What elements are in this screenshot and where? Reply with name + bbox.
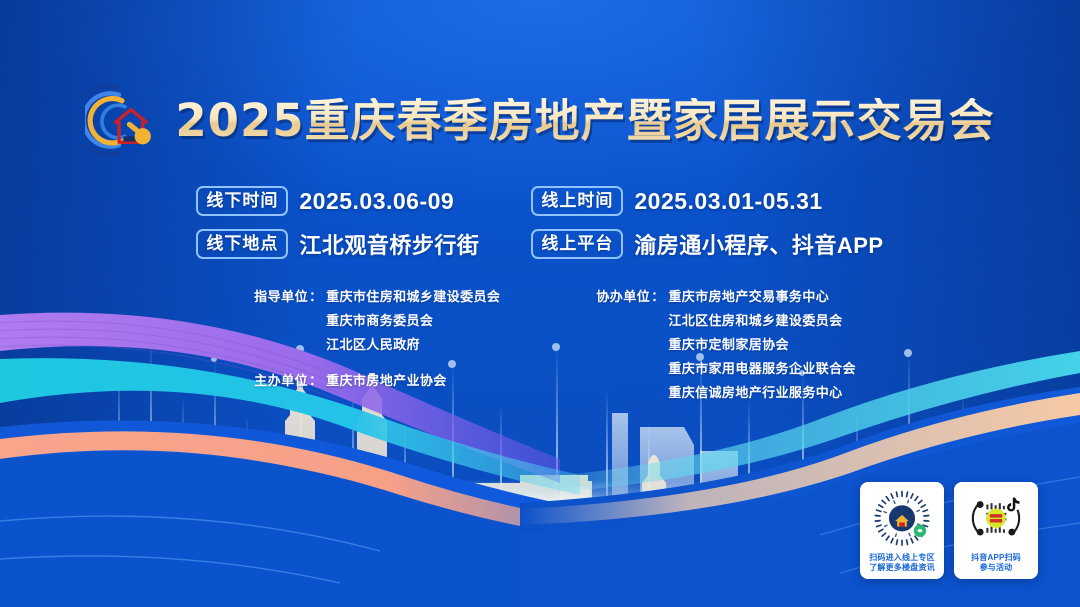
organizer-separator: ：	[650, 286, 668, 305]
organizer-value: 重庆市房地产业协会	[326, 370, 447, 389]
organizer-separator	[650, 358, 668, 377]
wechat-qr-caption-line1: 扫码进入线上专区	[869, 553, 935, 562]
online-time-tag: 线上时间	[531, 186, 623, 216]
organizer-row: 江北区住房和城乡建设委员会	[578, 310, 856, 329]
page-title: 2025重庆春季房地产暨家居展示交易会	[175, 98, 994, 143]
offline-time-row: 线下时间 2025.03.06-09	[196, 186, 479, 216]
douyin-qr-caption-line1: 抖音APP扫码	[971, 553, 1021, 562]
organizer-value: 重庆市家用电器服务企业联合会	[668, 358, 856, 377]
event-info: 线下时间 2025.03.06-09 线下地点 江北观音桥步行街 线上时间 20…	[0, 186, 1080, 259]
organizer-label: 主办单位	[224, 370, 308, 389]
offline-time-value: 2025.03.06-09	[299, 188, 454, 215]
title-row: 2025重庆春季房地产暨家居展示交易会	[0, 84, 1080, 156]
event-poster: 2025重庆春季房地产暨家居展示交易会 线下时间 2025.03.06-09 线…	[0, 0, 1080, 607]
douyin-qr-card[interactable]: 抖音APP扫码 参与活动	[954, 482, 1038, 579]
douyin-qr-caption-line2: 参与活动	[980, 563, 1013, 572]
organizers-left-block: 指导单位 ： 重庆市住房和城乡建设委员会 重庆市商务委员会 江北区人民政府 主办…	[224, 286, 500, 401]
organizer-value: 重庆市住房和城乡建设委员会	[326, 286, 500, 305]
organizer-value: 重庆市房地产交易事务中心	[668, 286, 829, 305]
qr-code-group: 扫码进入线上专区 了解更多楼盘资讯	[860, 482, 1038, 579]
organizer-separator: ：	[308, 370, 326, 389]
offline-location-value: 江北观音桥步行街	[299, 228, 479, 260]
wechat-miniprogram-qr-card[interactable]: 扫码进入线上专区 了解更多楼盘资讯	[860, 482, 944, 579]
organizer-value: 重庆市商务委员会	[326, 310, 433, 329]
wechat-qr-caption: 扫码进入线上专区 了解更多楼盘资讯	[869, 553, 935, 574]
organizer-value: 重庆市定制家居协会	[668, 334, 789, 353]
online-info-column: 线上时间 2025.03.01-05.31 线上平台 渝房通小程序、抖音APP	[531, 186, 883, 259]
online-time-value: 2025.03.01-05.31	[634, 188, 822, 215]
organizer-row: 重庆市家用电器服务企业联合会	[578, 358, 856, 377]
organizer-label: 指导单位	[224, 286, 308, 305]
organizer-separator	[650, 382, 668, 401]
douyin-qr-icon[interactable]	[961, 488, 1031, 550]
online-platform-tag: 线上平台	[531, 229, 623, 259]
wechat-qr-caption-line2: 了解更多楼盘资讯	[869, 563, 935, 572]
wechat-miniprogram-qr-icon[interactable]	[867, 488, 937, 550]
organizer-row: 重庆市定制家居协会	[578, 334, 856, 353]
douyin-qr-caption: 抖音APP扫码 参与活动	[971, 553, 1021, 574]
organizer-row: 指导单位 ： 重庆市住房和城乡建设委员会	[224, 286, 500, 305]
organizer-separator	[308, 334, 326, 353]
organizers: 指导单位 ： 重庆市住房和城乡建设委员会 重庆市商务委员会 江北区人民政府 主办…	[0, 286, 1080, 401]
organizer-row: 江北区人民政府	[224, 334, 500, 353]
organizer-row: 协办单位 ： 重庆市房地产交易事务中心	[578, 286, 856, 305]
organizers-right-block: 协办单位 ： 重庆市房地产交易事务中心 江北区住房和城乡建设委员会 重庆市定制家…	[578, 286, 856, 401]
organizer-value: 江北区人民政府	[326, 334, 420, 353]
organizer-row: 重庆市商务委员会	[224, 310, 500, 329]
offline-info-column: 线下时间 2025.03.06-09 线下地点 江北观音桥步行街	[196, 186, 479, 259]
organizer-value: 重庆信诚房地产行业服务中心	[668, 382, 842, 401]
offline-location-row: 线下地点 江北观音桥步行街	[196, 229, 479, 259]
organizer-value: 江北区住房和城乡建设委员会	[668, 310, 842, 329]
organizer-spacer	[224, 358, 500, 365]
organizer-row: 主办单位 ： 重庆市房地产业协会	[224, 370, 500, 389]
organizer-separator	[308, 310, 326, 329]
organizer-separator	[650, 334, 668, 353]
organizer-label: 协办单位	[578, 286, 650, 305]
organizer-separator	[650, 310, 668, 329]
online-time-row: 线上时间 2025.03.01-05.31	[531, 186, 883, 216]
organizer-row: 重庆信诚房地产行业服务中心	[578, 382, 856, 401]
organizer-separator: ：	[308, 286, 326, 305]
offline-location-tag: 线下地点	[196, 229, 288, 259]
house-in-arcs-logo-icon	[85, 83, 159, 157]
offline-time-tag: 线下时间	[196, 186, 288, 216]
online-platform-value: 渝房通小程序、抖音APP	[634, 228, 883, 260]
online-platform-row: 线上平台 渝房通小程序、抖音APP	[531, 229, 883, 259]
